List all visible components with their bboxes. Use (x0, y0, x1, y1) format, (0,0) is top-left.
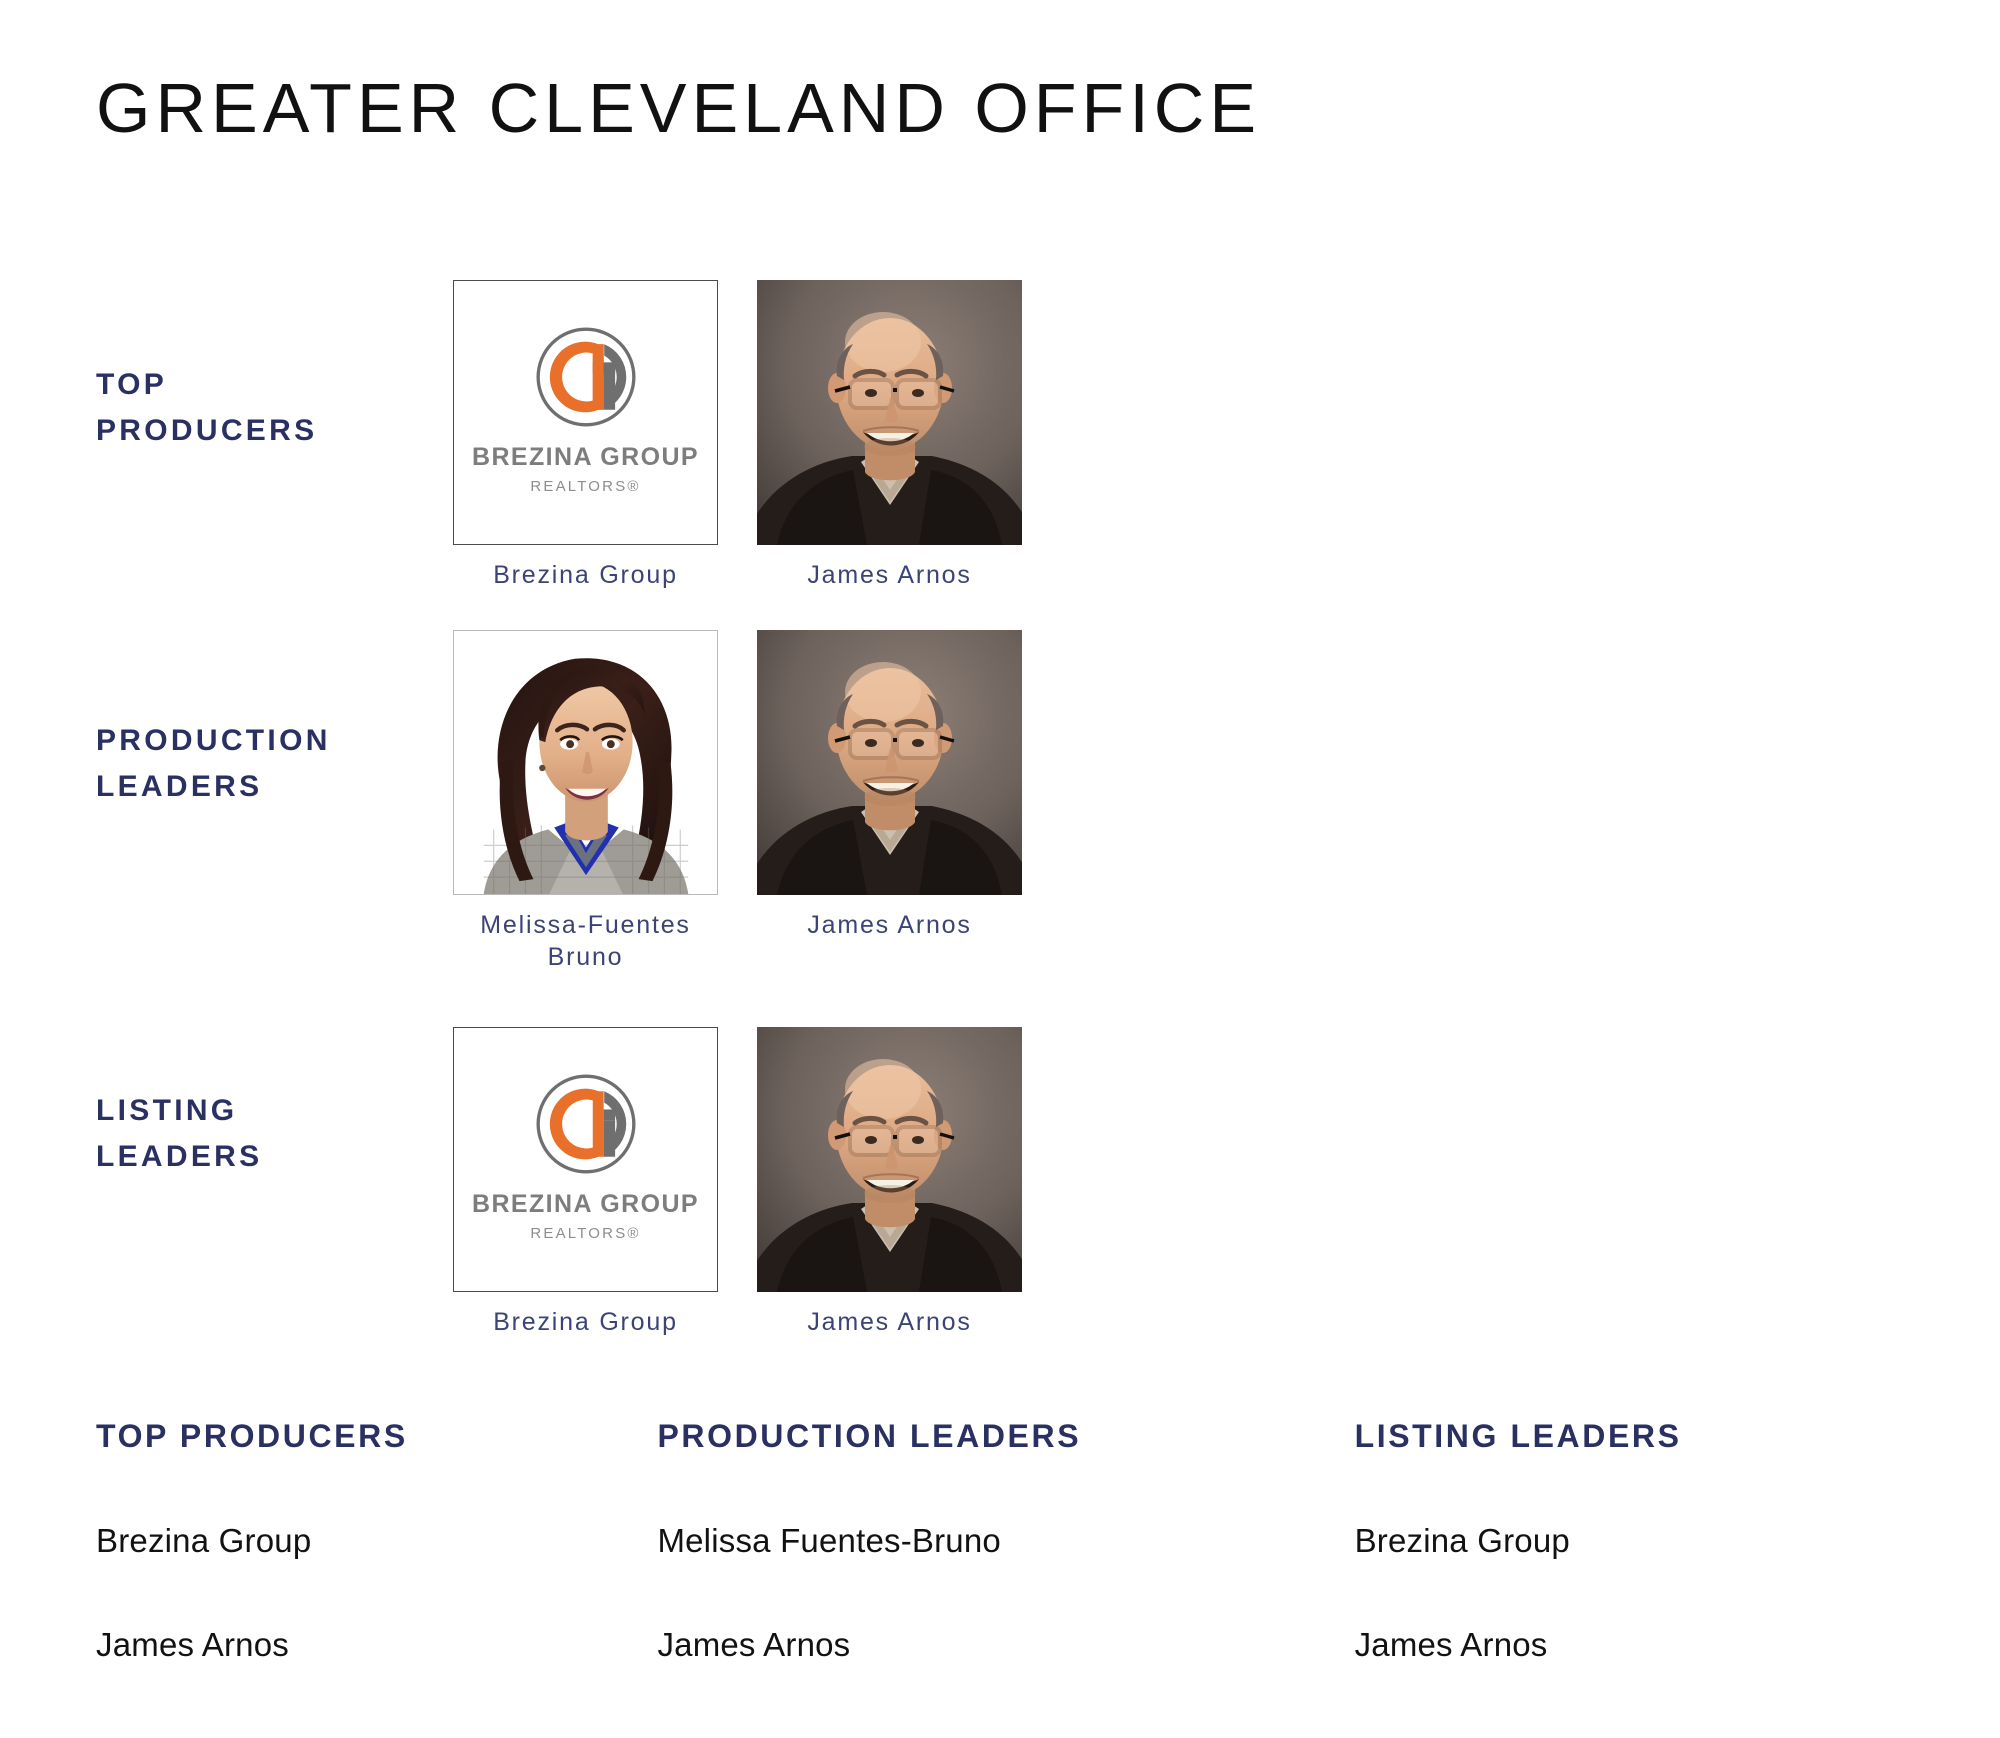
card-listing-leaders-james-arnos: James Arnos (757, 1027, 1022, 1338)
card-top-producers-brezina-group: BREZINA GROUP REALTORS® Brezina Group (453, 280, 718, 591)
row-label-line2: LEADERS (96, 764, 426, 810)
summary-section: TOP PRODUCERS Brezina Group James Arnos … (96, 1420, 1916, 1661)
row-label-listing-leaders: LISTING LEADERS (96, 1088, 426, 1179)
james-arnos-headshot (757, 630, 1022, 895)
list-item: Melissa Fuentes-Bruno (657, 1524, 1354, 1557)
row-label-top-producers: TOP PRODUCERS (96, 362, 426, 453)
row-label-line1: PRODUCTION (96, 718, 426, 764)
list-item: Brezina Group (96, 1524, 657, 1557)
brezina-group-logo: BREZINA GROUP REALTORS® (453, 280, 718, 545)
list-item: James Arnos (1355, 1628, 1916, 1661)
brezina-wordmark: BREZINA GROUP (472, 445, 699, 470)
card-caption: James Arnos (757, 909, 1022, 941)
list-item: Brezina Group (1355, 1524, 1916, 1557)
card-caption-line2: Bruno (453, 941, 718, 973)
james-arnos-portrait-graphic (757, 1027, 1022, 1292)
brezina-subword: REALTORS® (530, 479, 640, 494)
row-label-line2: PRODUCERS (96, 408, 426, 454)
summary-column-top-producers: TOP PRODUCERS Brezina Group James Arnos (96, 1420, 657, 1661)
summary-name-list: Melissa Fuentes-Bruno James Arnos (657, 1524, 1354, 1661)
james-arnos-portrait-graphic (757, 280, 1022, 545)
card-listing-leaders-brezina-group: BREZINA GROUP REALTORS® Brezina Group (453, 1027, 718, 1338)
summary-name-list: Brezina Group James Arnos (1355, 1524, 1916, 1661)
summary-heading: PRODUCTION LEADERS (657, 1420, 1354, 1452)
melissa-fuentes-bruno-headshot (453, 630, 718, 895)
card-caption: Melissa-Fuentes Bruno (453, 909, 718, 973)
james-arnos-headshot (757, 1027, 1022, 1292)
brezina-g-monogram-icon (534, 1072, 638, 1176)
page-title: GREATER CLEVELAND OFFICE (96, 72, 1261, 146)
card-caption: James Arnos (757, 1306, 1022, 1338)
card-production-leaders-melissa-fuentes-bruno: Melissa-Fuentes Bruno (453, 630, 718, 973)
card-production-leaders-james-arnos: James Arnos (757, 630, 1022, 941)
summary-name-list: Brezina Group James Arnos (96, 1524, 657, 1661)
summary-column-production-leaders: PRODUCTION LEADERS Melissa Fuentes-Bruno… (657, 1420, 1354, 1661)
row-label-line1: TOP (96, 362, 426, 408)
brezina-subword: REALTORS® (530, 1226, 640, 1241)
brezina-group-logo: BREZINA GROUP REALTORS® (453, 1027, 718, 1292)
row-label-line1: LISTING (96, 1088, 426, 1134)
brezina-wordmark: BREZINA GROUP (472, 1192, 699, 1217)
card-caption-line1: Melissa-Fuentes (453, 909, 718, 941)
summary-column-listing-leaders: LISTING LEADERS Brezina Group James Arno… (1355, 1420, 1916, 1661)
list-item: James Arnos (657, 1628, 1354, 1661)
melissa-fuentes-bruno-portrait-graphic (454, 631, 717, 894)
row-label-production-leaders: PRODUCTION LEADERS (96, 718, 426, 809)
james-arnos-headshot (757, 280, 1022, 545)
row-label-line2: LEADERS (96, 1134, 426, 1180)
card-caption: Brezina Group (453, 559, 718, 591)
card-caption: James Arnos (757, 559, 1022, 591)
summary-heading: LISTING LEADERS (1355, 1420, 1916, 1452)
card-caption: Brezina Group (453, 1306, 718, 1338)
brezina-g-monogram-icon (534, 325, 638, 429)
card-top-producers-james-arnos: James Arnos (757, 280, 1022, 591)
list-item: James Arnos (96, 1628, 657, 1661)
james-arnos-portrait-graphic (757, 630, 1022, 895)
summary-heading: TOP PRODUCERS (96, 1420, 657, 1452)
